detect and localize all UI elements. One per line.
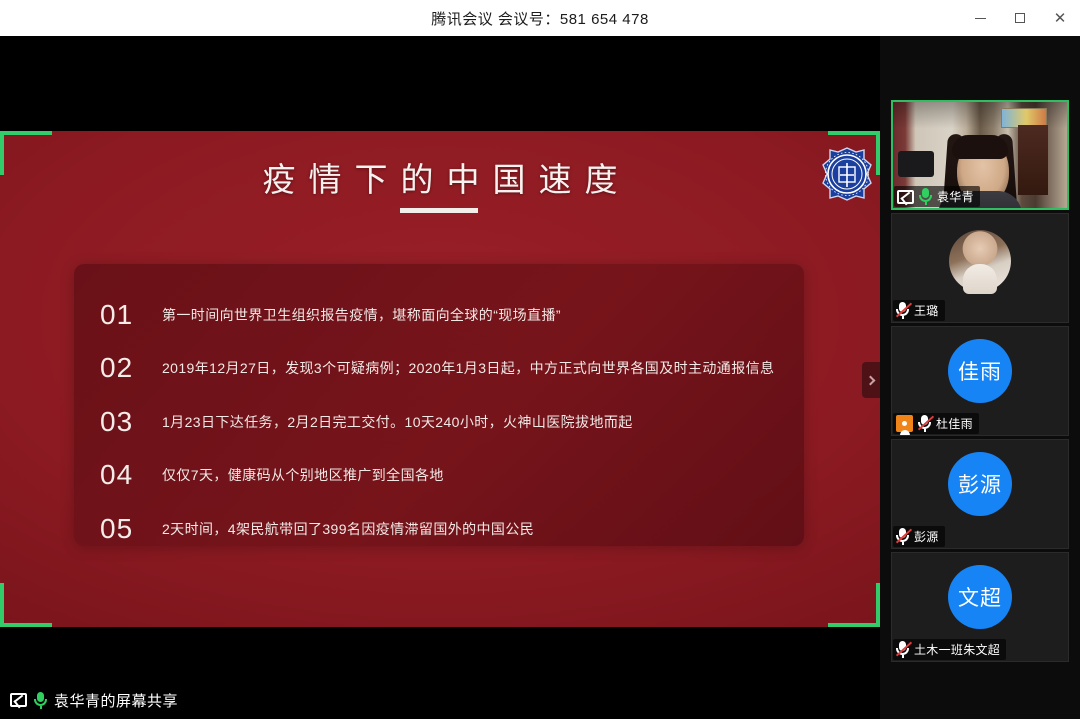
window-title: 腾讯会议 会议号：581 654 478 — [431, 8, 649, 29]
window-controls: ✕ — [960, 0, 1080, 36]
share-border-segment — [0, 583, 4, 627]
share-status-bar: 袁华青的屏幕共享 — [0, 681, 880, 719]
slide-item-number: 03 — [100, 406, 162, 438]
share-border-segment — [876, 131, 880, 175]
participant-tile-1[interactable]: 王璐 — [891, 213, 1069, 323]
title-bar: 腾讯会议 会议号：581 654 478 ✕ — [0, 0, 1080, 36]
slide-title: 疫情下的中国速度 — [0, 153, 880, 201]
screen-share-icon — [897, 190, 914, 204]
microphone-muted-icon — [896, 302, 909, 319]
screen-share-icon — [10, 693, 27, 707]
share-border-segment — [828, 623, 880, 627]
slide-item-text: 仅仅7天，健康码从个别地区推广到全国各地 — [162, 465, 444, 485]
minimize-button[interactable] — [960, 0, 1000, 36]
slide-item-row: 01 第一时间向世界卫生组织报告疫情，堪称面向全球的“现场直播” — [100, 288, 778, 342]
microphone-muted-icon — [896, 528, 909, 545]
avatar: 彭源 — [948, 452, 1012, 516]
slide-item-number: 04 — [100, 459, 162, 491]
participant-name-strip: 王璐 — [893, 300, 945, 321]
share-status-text: 袁华青的屏幕共享 — [54, 690, 178, 711]
participant-tile-2[interactable]: 佳雨 杜佳雨 — [891, 326, 1069, 436]
slide-item-text: 第一时间向世界卫生组织报告疫情，堪称面向全球的“现场直播” — [162, 305, 561, 325]
participant-name-strip: 袁华青 — [894, 186, 980, 207]
share-border-segment — [0, 623, 52, 627]
meeting-window: 腾讯会议 会议号：581 654 478 ✕ 疫情下的中国速度 — [0, 0, 1080, 719]
participant-name: 王璐 — [914, 302, 939, 319]
participant-name: 彭源 — [914, 528, 939, 545]
shared-slide: 疫情下的中国速度 01 第一时间向世界卫生组织报告疫情，堪称面向全球的“现场直播… — [0, 131, 880, 627]
avatar: 文超 — [948, 565, 1012, 629]
shared-screen-stage[interactable]: 疫情下的中国速度 01 第一时间向世界卫生组织报告疫情，堪称面向全球的“现场直播… — [0, 36, 880, 681]
participant-tile-4[interactable]: 文超 土木一班朱文超 — [891, 552, 1069, 662]
slide-content-card: 01 第一时间向世界卫生组织报告疫情，堪称面向全球的“现场直播” 02 2019… — [74, 264, 804, 546]
avatar — [949, 230, 1011, 292]
microphone-muted-icon — [896, 641, 909, 658]
rail-spacer — [891, 41, 1069, 97]
participant-rail[interactable]: 袁华青 王璐 佳雨 — [880, 36, 1080, 719]
slide-item-row: 02 2019年12月27日，发现3个可疑病例；2020年1月3日起，中方正式向… — [100, 342, 778, 396]
maximize-icon — [1015, 13, 1025, 23]
slide-item-number: 01 — [100, 299, 162, 331]
participant-tile-3[interactable]: 彭源 彭源 — [891, 439, 1069, 549]
slide-item-row: 04 仅仅7天，健康码从个别地区推广到全国各地 — [100, 449, 778, 503]
participant-name: 袁华青 — [937, 188, 974, 205]
slide-item-row: 05 2天时间，4架民航带回了399名因疫情滞留国外的中国公民 — [100, 502, 778, 556]
share-border-segment — [0, 131, 52, 135]
participant-name: 杜佳雨 — [936, 415, 973, 432]
minimize-icon — [975, 18, 986, 19]
microphone-muted-icon — [918, 415, 931, 432]
share-border-segment — [876, 583, 880, 627]
participant-name-strip: 彭源 — [893, 526, 945, 547]
share-border-segment — [828, 131, 880, 135]
slide-item-number: 02 — [100, 352, 162, 384]
participant-name: 土木一班朱文超 — [914, 641, 1000, 658]
microphone-on-icon — [34, 692, 47, 709]
title-underline — [400, 208, 478, 213]
close-button[interactable]: ✕ — [1040, 0, 1080, 36]
microphone-on-icon — [919, 188, 932, 205]
maximize-button[interactable] — [1000, 0, 1040, 36]
share-border-segment — [0, 131, 4, 175]
chevron-right-icon — [865, 375, 875, 385]
slide-item-number: 05 — [100, 513, 162, 545]
university-seal-icon — [818, 145, 876, 203]
close-icon: ✕ — [1054, 11, 1067, 26]
participant-name-strip: 杜佳雨 — [893, 413, 979, 434]
slide-item-text: 2019年12月27日，发现3个可疑病例；2020年1月3日起，中方正式向世界各… — [162, 358, 774, 378]
slide-item-text: 1月23日下达任务，2月2日完工交付。10天240小时，火神山医院拔地而起 — [162, 412, 633, 432]
avatar: 佳雨 — [948, 339, 1012, 403]
slide-item-text: 2天时间，4架民航带回了399名因疫情滞留国外的中国公民 — [162, 519, 534, 539]
participant-name-strip: 土木一班朱文超 — [893, 639, 1006, 660]
host-badge-icon — [896, 415, 913, 432]
participant-tile-0[interactable]: 袁华青 — [891, 100, 1069, 210]
collapse-panel-handle[interactable] — [862, 362, 880, 398]
slide-item-row: 03 1月23日下达任务，2月2日完工交付。10天240小时，火神山医院拔地而起 — [100, 395, 778, 449]
